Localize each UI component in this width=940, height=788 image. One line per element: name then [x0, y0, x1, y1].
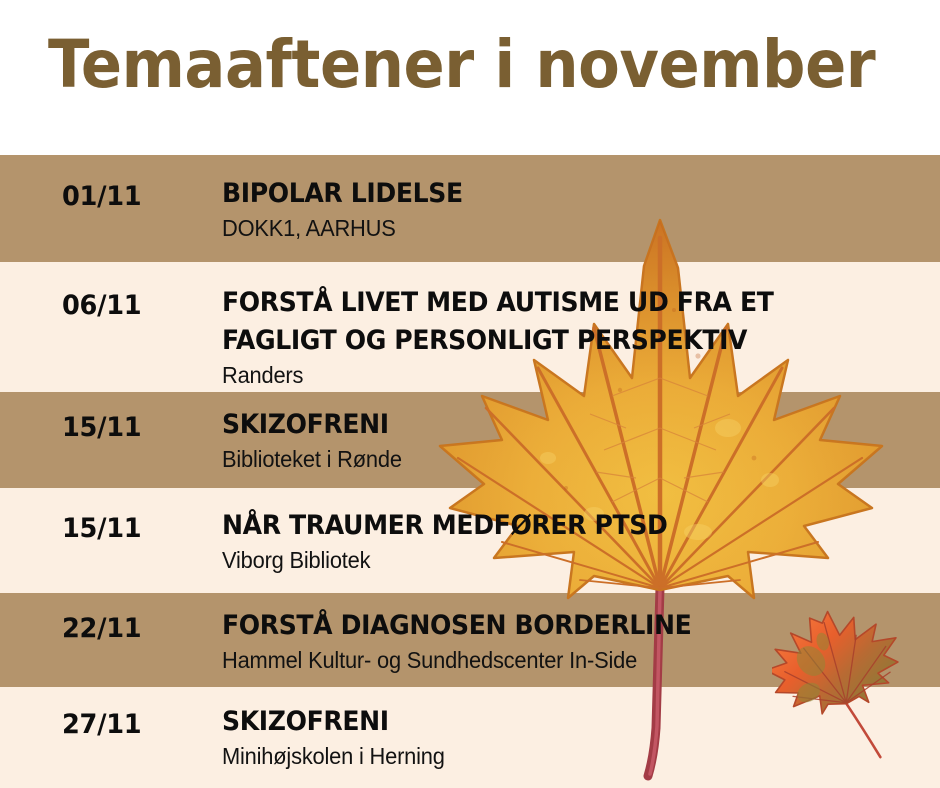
event-details: NÅR TRAUMER MEDFØRER PTSD Viborg Bibliot… — [222, 507, 930, 575]
event-date: 15/11 — [62, 412, 141, 443]
event-venue: Hammel Kultur- og Sundhedscenter In-Side — [222, 645, 895, 675]
poster-header: Temaaftener i november — [0, 0, 940, 155]
event-details: BIPOLAR LIDELSE DOKK1, AARHUS — [222, 175, 930, 243]
event-venue: Viborg Bibliotek — [222, 545, 895, 575]
event-title-line: FORSTÅ DIAGNOSEN BORDERLINE — [222, 607, 880, 645]
event-title-line: BIPOLAR LIDELSE — [222, 175, 880, 213]
event-venue: Minihøjskolen i Herning — [222, 741, 895, 771]
list-item[interactable]: 15/11 NÅR TRAUMER MEDFØRER PTSD Viborg B… — [0, 488, 940, 593]
event-details: FORSTÅ DIAGNOSEN BORDERLINE Hammel Kultu… — [222, 607, 930, 675]
event-details: SKIZOFRENI Biblioteket i Rønde — [222, 406, 930, 474]
event-details: FORSTÅ LIVET MED AUTISME UD FRA ET FAGLI… — [222, 284, 930, 390]
event-date: 27/11 — [62, 709, 141, 740]
event-details: SKIZOFRENI Minihøjskolen i Herning — [222, 703, 930, 771]
event-title-line: NÅR TRAUMER MEDFØRER PTSD — [222, 507, 880, 545]
event-title-line: FORSTÅ LIVET MED AUTISME UD FRA ET — [222, 284, 880, 322]
list-item[interactable]: 22/11 FORSTÅ DIAGNOSEN BORDERLINE Hammel… — [0, 593, 940, 687]
event-date: 01/11 — [62, 181, 141, 212]
event-date: 22/11 — [62, 613, 141, 644]
event-venue: Randers — [222, 360, 895, 390]
event-date: 06/11 — [62, 290, 141, 321]
page-title: Temaaftener i november — [48, 26, 875, 103]
list-item[interactable]: 01/11 BIPOLAR LIDELSE DOKK1, AARHUS — [0, 155, 940, 262]
list-item[interactable]: 27/11 SKIZOFRENI Minihøjskolen i Herning — [0, 687, 940, 788]
event-date: 15/11 — [62, 513, 141, 544]
event-venue: DOKK1, AARHUS — [222, 213, 895, 243]
event-title-line: SKIZOFRENI — [222, 703, 880, 741]
event-title-line: FAGLIGT OG PERSONLIGT PERSPEKTIV — [222, 322, 880, 360]
list-item[interactable]: 06/11 FORSTÅ LIVET MED AUTISME UD FRA ET… — [0, 262, 940, 392]
event-list: 01/11 BIPOLAR LIDELSE DOKK1, AARHUS 06/1… — [0, 155, 940, 788]
event-venue: Biblioteket i Rønde — [222, 444, 895, 474]
list-item[interactable]: 15/11 SKIZOFRENI Biblioteket i Rønde — [0, 392, 940, 488]
event-title-line: SKIZOFRENI — [222, 406, 880, 444]
poster-canvas: Temaaftener i november 01/11 BIPOLAR LID… — [0, 0, 940, 788]
